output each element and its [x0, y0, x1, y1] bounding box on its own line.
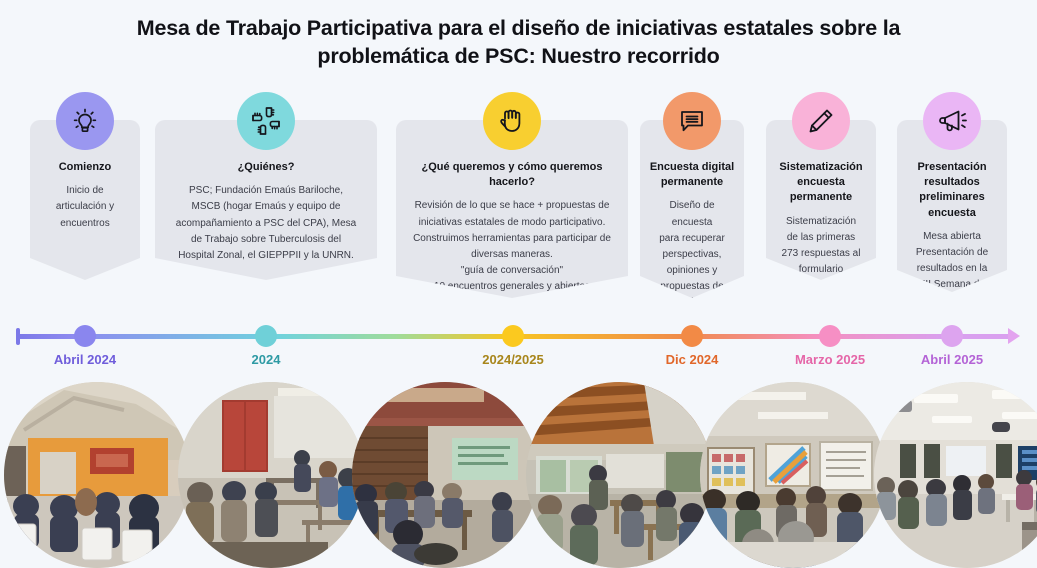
timeline-label: Dic 2024	[666, 352, 719, 367]
photo-strip	[0, 382, 1037, 568]
timeline-dot[interactable]	[74, 325, 96, 347]
page-title: Mesa de Trabajo Participativa para el di…	[0, 14, 1037, 71]
step-title: Presentación resultados preliminares enc…	[905, 160, 999, 221]
photo-meeting-5	[700, 382, 886, 568]
step-title: ¿Quiénes?	[163, 160, 369, 175]
timeline-label: Abril 2024	[54, 352, 116, 367]
timeline-dot[interactable]	[255, 325, 277, 347]
speech-bubble-icon	[663, 92, 721, 150]
pencil-icon	[792, 92, 850, 150]
photo-meeting-3	[352, 382, 538, 568]
megaphone-icon	[923, 92, 981, 150]
step-body: Diseño de encuesta para recuperar perspe…	[648, 198, 736, 328]
timeline-dot[interactable]	[819, 325, 841, 347]
timeline-label: 2024	[252, 352, 281, 367]
step-title: Sistematización encuesta permanente	[774, 160, 868, 206]
lightbulb-icon	[56, 92, 114, 150]
timeline-dot[interactable]	[502, 325, 524, 347]
step-body: Inicio de articulación y encuentros	[38, 183, 132, 232]
timeline-arrow-icon	[1008, 328, 1020, 344]
timeline-dot[interactable]	[941, 325, 963, 347]
step-body: Revisión de lo que se hace + propuestas …	[404, 198, 620, 311]
step-title: Encuesta digital permanente	[648, 160, 736, 190]
photo-meeting-2	[178, 382, 364, 568]
timeline-label: 2024/2025	[482, 352, 543, 367]
step-body: Mesa abierta Presentación de resultados …	[905, 229, 999, 310]
photo-meeting-4	[526, 382, 712, 568]
timeline-label: Abril 2025	[921, 352, 983, 367]
timeline-label: Marzo 2025	[795, 352, 865, 367]
raised-fist-icon	[483, 92, 541, 150]
teamwork-hands-icon	[237, 92, 295, 150]
timeline-dot[interactable]	[681, 325, 703, 347]
step-body: Sistematización de las primeras 273 resp…	[774, 214, 868, 279]
steps-strip: Comienzo Inicio de articulación y encuen…	[0, 92, 1037, 317]
photo-meeting-1	[4, 382, 190, 568]
step-body: PSC; Fundación Emaús Bariloche, MSCB (ho…	[163, 183, 369, 264]
page-title-line-2: problemática de PSC: Nuestro recorrido	[60, 42, 977, 70]
timeline: Abril 2024 2024 2024/2025 Dic 2024 Marzo…	[0, 318, 1037, 376]
step-title: ¿Qué queremos y cómo queremos hacerlo?	[404, 160, 620, 190]
page-title-line-1: Mesa de Trabajo Participativa para el di…	[60, 14, 977, 42]
step-title: Comienzo	[38, 160, 132, 175]
photo-meeting-6	[874, 382, 1037, 568]
timeline-start-cap	[16, 328, 20, 345]
